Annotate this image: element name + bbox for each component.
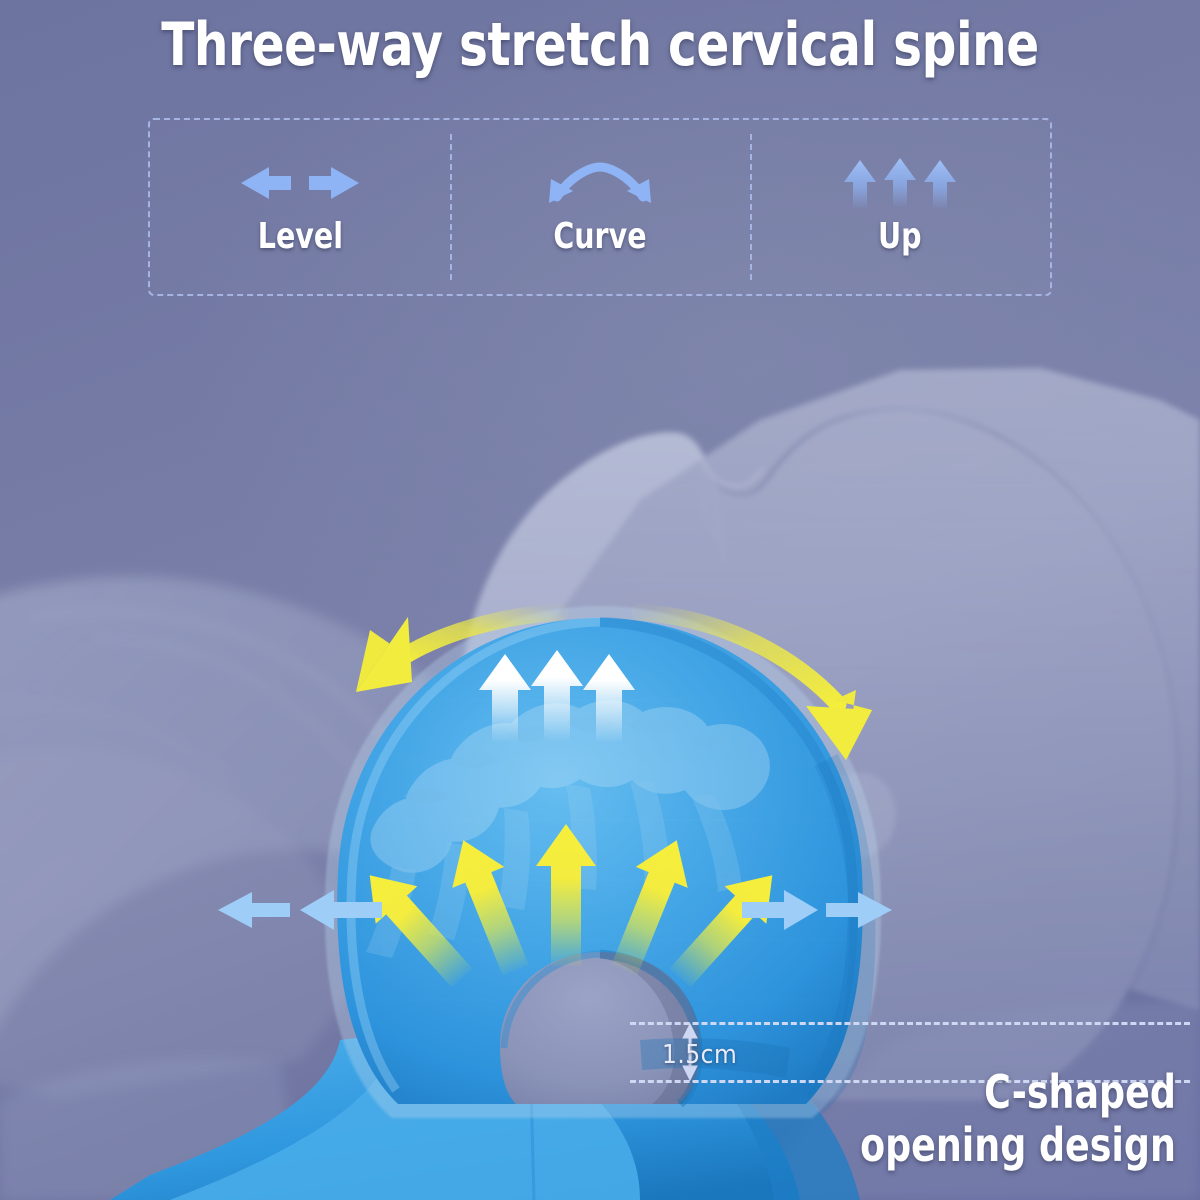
double-horizontal-arrow-icon — [235, 157, 365, 209]
feature-cell-up[interactable]: Up — [750, 120, 1050, 294]
product-caption: C-shaped opening design — [817, 1066, 1176, 1172]
feature-box: Level Curve — [148, 118, 1052, 296]
feature-label-up: Up — [878, 217, 922, 257]
caption-line-1: C-shaped — [860, 1066, 1176, 1119]
feature-cell-curve[interactable]: Curve — [450, 120, 750, 294]
measure-dash-top — [630, 1022, 1190, 1025]
feature-label-curve: Curve — [553, 217, 646, 257]
triple-up-arrow-icon — [840, 157, 960, 209]
curved-double-arrow-icon — [535, 157, 665, 209]
page-title: Three-way stretch cervical spine — [60, 10, 1140, 80]
measure-label: 1.5cm — [662, 1040, 737, 1070]
lift-arrows — [479, 650, 635, 742]
caption-line-2: opening design — [860, 1119, 1176, 1172]
feature-cell-level[interactable]: Level — [150, 120, 450, 294]
product-marketing-image: Three-way stretch cervical spine Level — [0, 0, 1200, 1200]
feature-label-level: Level — [257, 217, 342, 257]
